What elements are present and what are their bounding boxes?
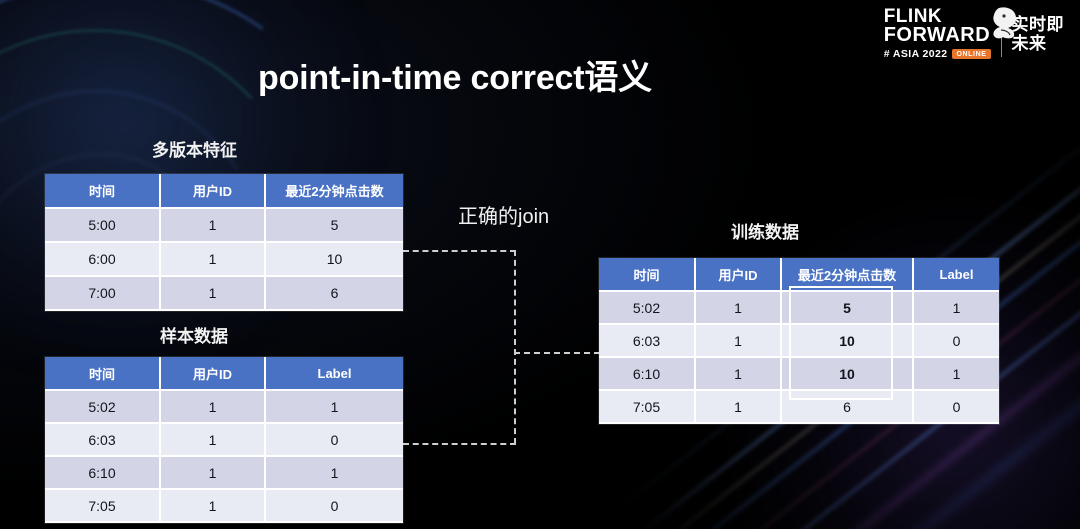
cell-time: 7:00 [45, 276, 160, 310]
cell-userid: 1 [695, 390, 781, 423]
column-header-time: 时间 [45, 357, 160, 390]
column-header-clicks: 最近2分钟点击数 [265, 174, 403, 208]
train-table: 时间 用户ID 最近2分钟点击数 Label 5:02 1 5 1 6:03 1… [599, 258, 999, 424]
table-row: 6:03 1 10 0 [599, 324, 999, 357]
cell-clicks: 10 [265, 242, 403, 276]
cell-time: 6:00 [45, 242, 160, 276]
table-row: 6:03 1 0 [45, 423, 403, 456]
table-row: 7:00 1 6 [45, 276, 403, 310]
cell-userid: 1 [160, 276, 265, 310]
flink-forward-logo: FLINK FORWARD # ASIA 2022 ONLINE 实时即 未来 [884, 8, 1064, 60]
column-header-userid: 用户ID [160, 357, 265, 390]
column-header-time: 时间 [599, 258, 695, 291]
cell-clicks: 5 [781, 291, 913, 324]
table-row: 5:02 1 5 1 [599, 291, 999, 324]
connector-vertical-join [514, 250, 516, 444]
cell-clicks: 10 [781, 357, 913, 390]
table-row: 6:00 1 10 [45, 242, 403, 276]
cell-label: 0 [265, 423, 403, 456]
cell-clicks: 10 [781, 324, 913, 357]
cell-label: 0 [913, 390, 999, 423]
column-header-label: Label [265, 357, 403, 390]
connector-to-train-table [514, 352, 600, 354]
cell-time: 5:02 [45, 390, 160, 423]
cell-userid: 1 [695, 291, 781, 324]
connector-from-sample-table [403, 443, 516, 445]
logo-chinese-tagline: 实时即 未来 [1012, 15, 1065, 53]
feature-table: 时间 用户ID 最近2分钟点击数 5:00 1 5 6:00 1 10 7:00… [45, 174, 403, 311]
column-header-clicks: 最近2分钟点击数 [781, 258, 913, 291]
cell-clicks: 6 [265, 276, 403, 310]
table-row: 5:02 1 1 [45, 390, 403, 423]
cell-userid: 1 [695, 324, 781, 357]
cell-userid: 1 [160, 423, 265, 456]
table-row: 7:05 1 6 0 [599, 390, 999, 423]
train-table-caption: 训练数据 [731, 218, 799, 243]
logo-cn-line1: 实时即 [1012, 15, 1065, 34]
cell-userid: 1 [160, 456, 265, 489]
logo-cn-line2: 未来 [1012, 34, 1065, 53]
cell-time: 5:02 [599, 291, 695, 324]
column-header-label: Label [913, 258, 999, 291]
table-header-row: 时间 用户ID Label [45, 357, 403, 390]
cell-userid: 1 [160, 489, 265, 522]
cell-userid: 1 [160, 390, 265, 423]
cell-time: 7:05 [599, 390, 695, 423]
connector-from-feature-table [403, 250, 516, 252]
column-header-userid: 用户ID [695, 258, 781, 291]
feature-table-caption: 多版本特征 [152, 136, 237, 161]
table-row: 6:10 1 10 1 [599, 357, 999, 390]
logo-online-badge: ONLINE [952, 49, 990, 59]
logo-asia-label: # ASIA 2022 [884, 48, 948, 60]
cell-label: 1 [913, 357, 999, 390]
cell-label: 1 [265, 390, 403, 423]
cell-label: 1 [265, 456, 403, 489]
join-annotation-label: 正确的join [458, 200, 549, 229]
sample-table-caption: 样本数据 [160, 322, 228, 347]
cell-label: 1 [913, 291, 999, 324]
cell-time: 6:10 [45, 456, 160, 489]
table-row: 7:05 1 0 [45, 489, 403, 522]
slide-canvas: FLINK FORWARD # ASIA 2022 ONLINE 实时即 未来 … [0, 0, 1080, 529]
column-header-userid: 用户ID [160, 174, 265, 208]
cell-clicks: 6 [781, 390, 913, 423]
table-header-row: 时间 用户ID 最近2分钟点击数 [45, 174, 403, 208]
cell-userid: 1 [160, 242, 265, 276]
cell-userid: 1 [160, 208, 265, 242]
cell-time: 6:03 [599, 324, 695, 357]
logo-line2: FORWARD [884, 26, 991, 45]
table-header-row: 时间 用户ID 最近2分钟点击数 Label [599, 258, 999, 291]
cell-time: 6:10 [599, 357, 695, 390]
cell-userid: 1 [695, 357, 781, 390]
cell-label: 0 [265, 489, 403, 522]
logo-subline: # ASIA 2022 ONLINE [884, 48, 991, 60]
table-row: 6:10 1 1 [45, 456, 403, 489]
column-header-time: 时间 [45, 174, 160, 208]
cell-time: 7:05 [45, 489, 160, 522]
sample-table: 时间 用户ID Label 5:02 1 1 6:03 1 0 6:10 1 1 [45, 357, 403, 523]
cell-clicks: 5 [265, 208, 403, 242]
squirrel-icon [979, 6, 1019, 40]
page-title: point-in-time correct语义 [258, 50, 652, 99]
cell-time: 5:00 [45, 208, 160, 242]
table-row: 5:00 1 5 [45, 208, 403, 242]
cell-label: 0 [913, 324, 999, 357]
logo-wordmark: FLINK FORWARD # ASIA 2022 ONLINE [884, 8, 991, 60]
cell-time: 6:03 [45, 423, 160, 456]
